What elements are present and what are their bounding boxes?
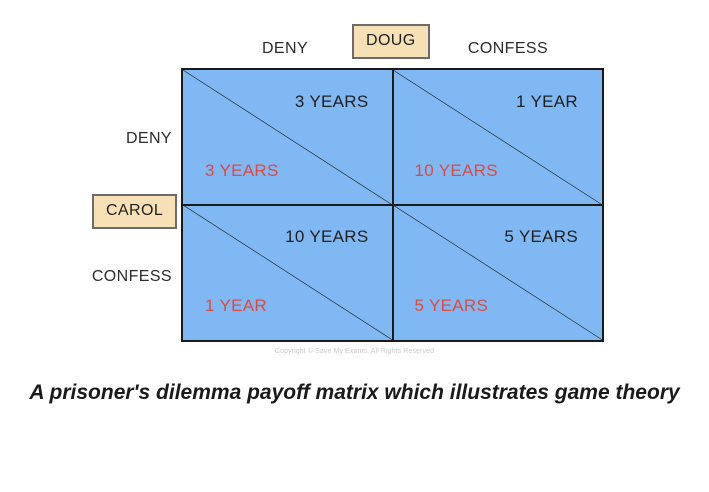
cell-diagonal-icon — [393, 70, 603, 205]
matrix-cell-deny-confess: 1 YEAR 10 YEARS — [393, 70, 603, 205]
carol-payoff-confess-deny: 1 YEAR — [205, 296, 267, 316]
matrix-cell-confess-deny: 10 YEARS 1 YEAR — [183, 205, 393, 340]
doug-payoff-confess-deny: 10 YEARS — [285, 227, 368, 247]
carol-payoff-deny-deny: 3 YEARS — [205, 161, 279, 181]
carol-payoff-confess-confess: 5 YEARS — [415, 296, 489, 316]
cell-diagonal-icon — [393, 205, 603, 340]
cell-diagonal-icon — [183, 205, 393, 340]
doug-payoff-confess-confess: 5 YEARS — [504, 227, 578, 247]
row-header-confess: CONFESS — [28, 268, 172, 286]
doug-payoff-deny-deny: 3 YEARS — [295, 92, 369, 112]
doug-payoff-deny-confess: 1 YEAR — [516, 92, 578, 112]
player-label-doug: DOUG — [352, 24, 430, 59]
payoff-matrix: 3 YEARS 3 YEARS 1 YEAR 10 YEARS 10 YEARS… — [181, 68, 604, 342]
matrix-cell-deny-deny: 3 YEARS 3 YEARS — [183, 70, 393, 205]
row-header-deny: DENY — [40, 130, 172, 148]
carol-payoff-deny-confess: 10 YEARS — [415, 161, 498, 181]
cell-diagonal-icon — [183, 70, 393, 205]
column-header-confess: CONFESS — [443, 40, 573, 58]
player-label-carol: CAROL — [92, 194, 177, 229]
column-header-deny: DENY — [225, 40, 345, 58]
copyright-watermark: Copyright © Save My Exams. All Rights Re… — [0, 348, 709, 355]
matrix-cell-confess-confess: 5 YEARS 5 YEARS — [393, 205, 603, 340]
figure-caption: A prisoner's dilemma payoff matrix which… — [16, 378, 693, 408]
